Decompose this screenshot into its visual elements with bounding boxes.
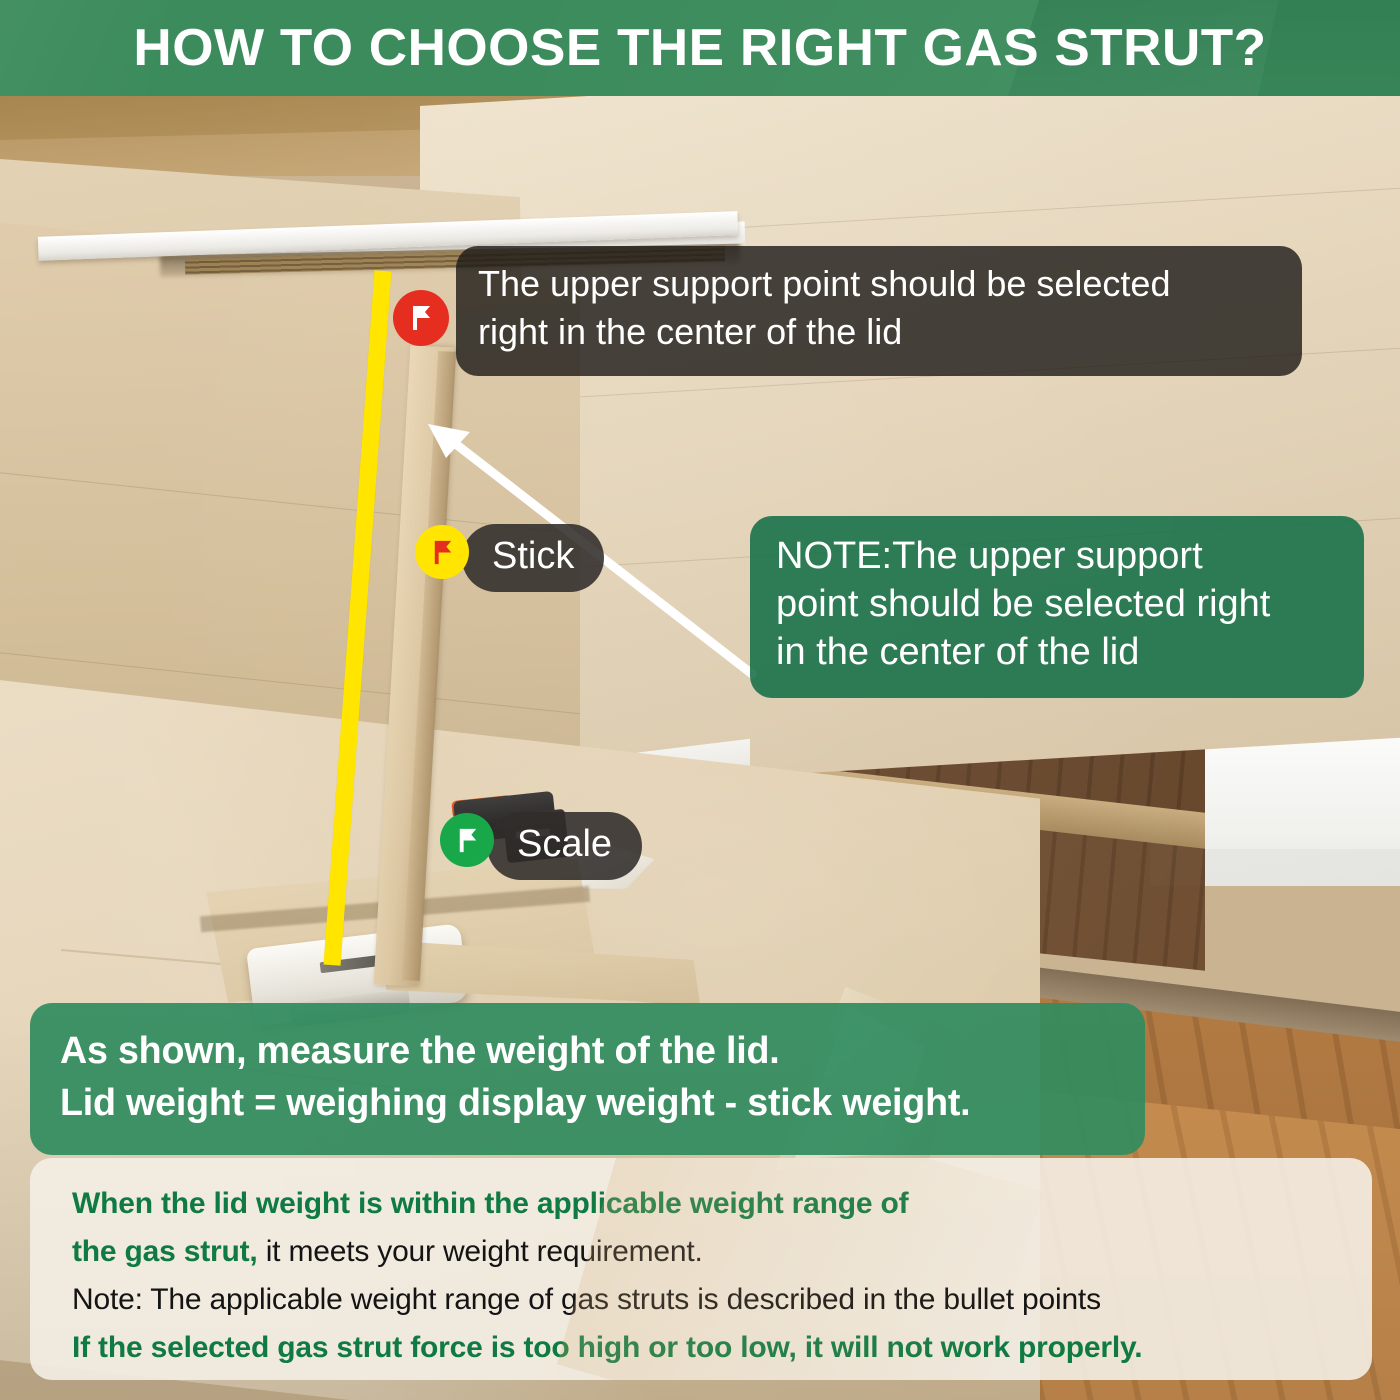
banner-line-1: As shown, measure the weight of the lid.: [60, 1025, 1104, 1077]
info-line-2: the gas strut, it meets your weight requ…: [72, 1228, 1330, 1276]
page-title: HOW TO CHOOSE THE RIGHT GAS STRUT?: [0, 16, 1400, 80]
flag-icon: [406, 303, 436, 333]
callout-line-2: right in the center of the lid: [478, 308, 1280, 356]
scale-marker[interactable]: [440, 813, 494, 867]
info-line-2-green: the gas strut,: [72, 1235, 258, 1268]
stick-label: Stick: [492, 535, 574, 578]
measure-instruction-banner: As shown, measure the weight of the lid.…: [30, 1003, 1145, 1155]
info-line-3-black: Note: The applicable weight range of gas…: [72, 1283, 1101, 1316]
scale-label: Scale: [517, 823, 612, 866]
weight-range-info-box: When the lid weight is within the applic…: [30, 1158, 1372, 1380]
info-line-4-green: If the selected gas strut force is too h…: [72, 1331, 1142, 1364]
info-line-1-green: When the lid weight is within the applic…: [72, 1187, 908, 1220]
note-callout: NOTE:The upper support point should be s…: [750, 516, 1364, 698]
info-line-4: If the selected gas strut force is too h…: [72, 1324, 1330, 1372]
flag-icon: [428, 538, 457, 567]
stick-marker[interactable]: [415, 525, 469, 579]
info-line-3: Note: The applicable weight range of gas…: [72, 1276, 1330, 1324]
note-line-3: in the center of the lid: [776, 628, 1338, 676]
callout-upper-support: The upper support point should be select…: [456, 246, 1302, 376]
infographic-page: HOW TO CHOOSE THE RIGHT GAS STRUT?: [0, 0, 1400, 1400]
banner-line-2: Lid weight = weighing display weight - s…: [60, 1077, 1104, 1129]
callout-line-1: The upper support point should be select…: [478, 260, 1280, 308]
stick-label-pill: Stick: [462, 524, 604, 592]
upper-support-point-marker[interactable]: [393, 290, 449, 346]
header-banner: HOW TO CHOOSE THE RIGHT GAS STRUT?: [0, 0, 1400, 96]
info-line-2-black: it meets your weight requirement.: [258, 1235, 703, 1268]
scale-label-pill: Scale: [487, 812, 642, 880]
note-line-1: NOTE:The upper support: [776, 532, 1338, 580]
info-line-1: When the lid weight is within the applic…: [72, 1180, 1330, 1228]
note-line-2: point should be selected right: [776, 580, 1338, 628]
flag-icon: [453, 826, 482, 855]
